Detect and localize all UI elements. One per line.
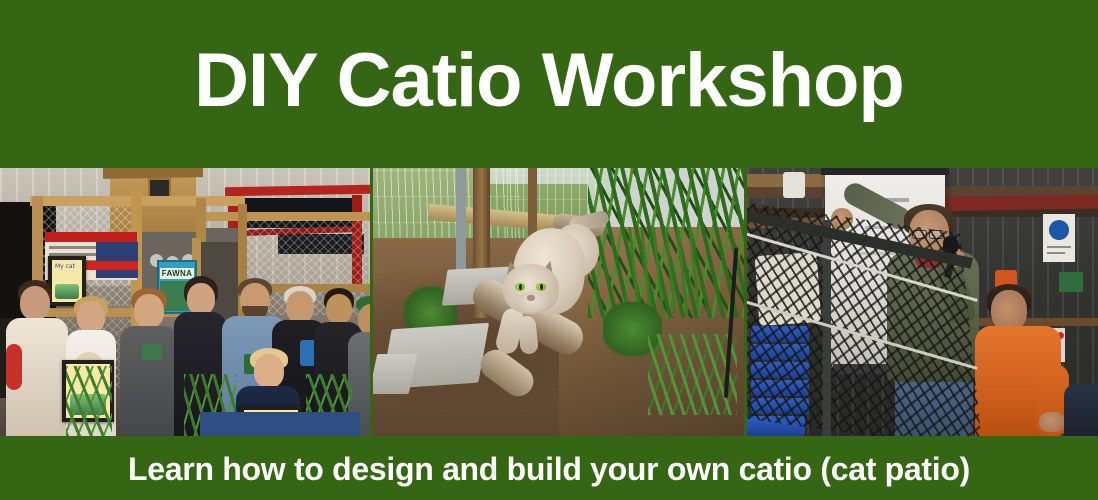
diy-catio-workshop-banner: DIY Catio Workshop bbox=[0, 0, 1098, 500]
title-band: DIY Catio Workshop bbox=[0, 0, 1098, 168]
page-title: DIY Catio Workshop bbox=[194, 43, 904, 119]
page-subtitle: Learn how to design and build your own c… bbox=[128, 451, 970, 488]
presenter-photo bbox=[747, 168, 1098, 436]
person bbox=[6, 280, 68, 436]
subtitle-band: Learn how to design and build your own c… bbox=[0, 436, 1098, 500]
poster-label: My cat bbox=[52, 260, 78, 273]
group-photo: FAWNA My cat bbox=[0, 168, 370, 436]
photo-strip: FAWNA My cat bbox=[0, 168, 1098, 436]
person bbox=[118, 288, 180, 436]
cat-in-catio-photo bbox=[373, 168, 744, 436]
